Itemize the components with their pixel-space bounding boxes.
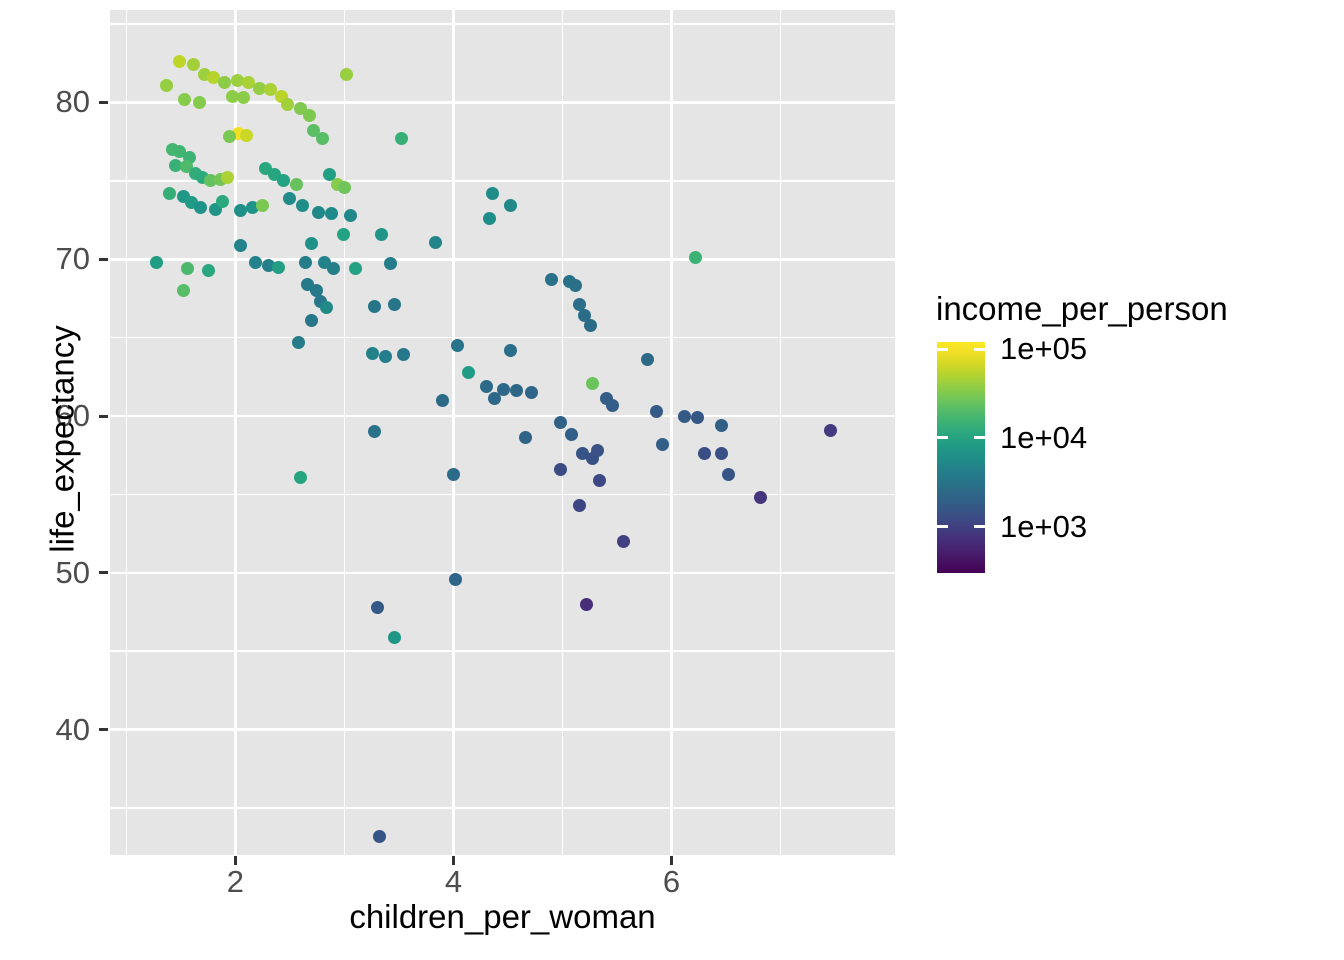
scatter-point: [388, 298, 401, 311]
scatter-point: [193, 96, 206, 109]
gridline-minor-horizontal: [110, 23, 895, 24]
scatter-point: [177, 284, 190, 297]
scatter-point: [656, 438, 669, 451]
scatter-point: [447, 468, 460, 481]
scatter-point: [312, 206, 325, 219]
scatter-point: [715, 419, 728, 432]
scatter-point: [554, 416, 567, 429]
scatter-point: [237, 91, 250, 104]
scatter-point: [216, 195, 229, 208]
scatter-point: [299, 256, 312, 269]
scatter-point: [650, 405, 663, 418]
scatter-point: [573, 499, 586, 512]
gridline-minor-horizontal: [110, 807, 895, 808]
scatter-point: [525, 386, 538, 399]
scatter-point: [504, 344, 517, 357]
legend-tick-label: 1e+04: [1000, 422, 1087, 453]
scatter-point: [368, 425, 381, 438]
scatter-point: [163, 187, 176, 200]
scatter-point: [371, 601, 384, 614]
scatter-point: [296, 199, 309, 212]
legend-colorbar: [937, 342, 985, 573]
scatter-point: [641, 353, 654, 366]
scatter-point: [395, 132, 408, 145]
scatter-point: [368, 300, 381, 313]
scatter-point: [678, 410, 691, 423]
legend-tick-mark: [974, 348, 985, 351]
scatter-point: [178, 93, 191, 106]
legend-tick-mark: [974, 436, 985, 439]
scatter-point: [449, 573, 462, 586]
scatter-point: [593, 474, 606, 487]
gridline-minor-horizontal: [110, 650, 895, 651]
scatter-point: [305, 237, 318, 250]
gridline-major-horizontal: [110, 572, 895, 575]
gridline-major-horizontal: [110, 258, 895, 261]
scatter-point: [337, 228, 350, 241]
scatter-point: [283, 192, 296, 205]
scatter-point: [277, 174, 290, 187]
scatter-point: [488, 392, 501, 405]
scatter-point: [290, 178, 303, 191]
scatter-point: [586, 377, 599, 390]
scatter-point: [173, 55, 186, 68]
scatter-point: [218, 76, 231, 89]
y-axis-tick-mark: [99, 728, 108, 731]
x-axis-tick-label: 4: [423, 866, 483, 897]
scatter-point: [565, 428, 578, 441]
y-axis-tick-mark: [99, 415, 108, 418]
scatter-point: [606, 399, 619, 412]
scatter-point: [194, 201, 207, 214]
scatter-point: [480, 380, 493, 393]
legend-tick-mark: [974, 525, 985, 528]
scatter-point: [292, 336, 305, 349]
scatter-point: [338, 181, 351, 194]
scatter-point: [272, 261, 285, 274]
scatter-point: [340, 68, 353, 81]
scatter-point: [221, 171, 234, 184]
y-axis-tick-mark: [99, 571, 108, 574]
scatter-point: [379, 350, 392, 363]
scatter-point: [256, 199, 269, 212]
scatter-point: [554, 463, 567, 476]
scatter-point: [325, 207, 338, 220]
scatter-point: [373, 830, 386, 843]
scatter-point: [384, 257, 397, 270]
scatter-point: [689, 251, 702, 264]
scatter-point: [316, 132, 329, 145]
y-axis-tick-mark: [99, 101, 108, 104]
scatter-point: [698, 447, 711, 460]
scatter-point: [366, 347, 379, 360]
scatter-point: [504, 199, 517, 212]
scatter-point: [436, 394, 449, 407]
y-axis-tick-mark: [99, 258, 108, 261]
scatter-point: [715, 447, 728, 460]
scatter-point: [150, 256, 163, 269]
scatter-point: [691, 411, 704, 424]
legend-tick-mark: [937, 348, 948, 351]
legend-tick-mark: [937, 525, 948, 528]
scatter-point: [320, 301, 333, 314]
scatter-point: [303, 109, 316, 122]
scatter-point: [249, 256, 262, 269]
scatter-point: [234, 239, 247, 252]
scatter-point: [486, 187, 499, 200]
scatter-point: [519, 431, 532, 444]
x-axis-tick-label: 6: [641, 866, 701, 897]
scatter-point: [483, 212, 496, 225]
gridline-minor-horizontal: [110, 494, 895, 495]
scatter-point: [375, 228, 388, 241]
x-axis-title: children_per_woman: [110, 898, 895, 936]
gridline-major-horizontal: [110, 728, 895, 731]
scatter-point: [462, 366, 475, 379]
scatter-point: [240, 129, 253, 142]
scatter-point: [617, 535, 630, 548]
scatter-point: [281, 98, 294, 111]
scatter-point: [202, 264, 215, 277]
scatter-point: [722, 468, 735, 481]
x-axis-tick-label: 2: [205, 866, 265, 897]
scatter-point: [510, 384, 523, 397]
legend-tick-label: 1e+05: [1000, 333, 1087, 364]
scatter-point: [160, 79, 173, 92]
scatter-point: [397, 348, 410, 361]
scatter-point: [580, 598, 593, 611]
y-axis-title: life_expectancy: [44, 17, 82, 862]
scatter-point: [344, 209, 357, 222]
scatter-point: [388, 631, 401, 644]
scatter-point: [545, 273, 558, 286]
legend-title: income_per_person: [936, 290, 1228, 328]
gridline-minor-horizontal: [110, 337, 895, 338]
plot-panel: [110, 10, 895, 855]
scatter-point: [824, 424, 837, 437]
scatter-point: [569, 279, 582, 292]
legend-tick-label: 1e+03: [1000, 511, 1087, 542]
scatter-point: [451, 339, 464, 352]
gridline-major-horizontal: [110, 415, 895, 418]
scatter-point: [327, 262, 340, 275]
scatter-plot-figure: 4050607080246 children_per_woman life_ex…: [0, 0, 1344, 960]
scatter-point: [349, 262, 362, 275]
legend-tick-mark: [937, 436, 948, 439]
scatter-point: [294, 471, 307, 484]
scatter-point: [591, 444, 604, 457]
scatter-point: [584, 319, 597, 332]
scatter-point: [754, 491, 767, 504]
scatter-point: [305, 314, 318, 327]
scatter-point: [429, 236, 442, 249]
scatter-point: [181, 262, 194, 275]
